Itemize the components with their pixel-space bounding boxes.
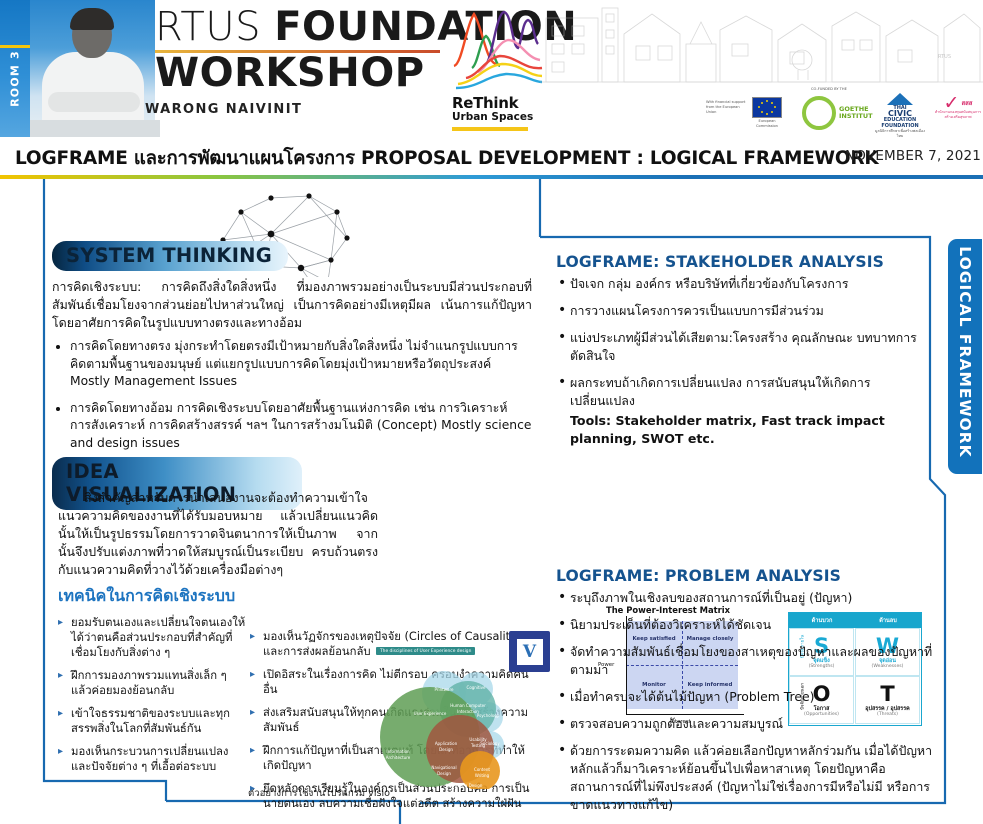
- slide-title: LOGFRAME และการพัฒนาแผนโครงการ PROPOSAL …: [15, 144, 879, 173]
- svg-text:Design: Design: [437, 771, 451, 776]
- ux-disciplines-venn: The disciplines of User Experience desig…: [372, 649, 517, 789]
- slide-title-bar: LOGFRAME และการพัฒนาแผนโครงการ PROPOSAL …: [0, 137, 983, 175]
- eu-commission-caption: European Commission: [752, 119, 782, 129]
- room-tab: ROOM 3: [0, 0, 30, 137]
- problem-analysis-section: LOGFRAME: PROBLEM ANALYSIS ระบุถึงภาพในเ…: [556, 567, 946, 823]
- sss-check-icon: ✓: [944, 96, 960, 110]
- cityscape-rtus-label: RTUS: [938, 54, 951, 60]
- svg-text:User Experience: User Experience: [414, 711, 447, 716]
- svg-text:Architecture: Architecture: [386, 755, 411, 760]
- svg-text:Usability: Usability: [469, 737, 487, 742]
- slide-date: NOVEMBER 7, 2021: [845, 148, 981, 164]
- stakeholder-bullets: ปัจเจก กลุ่ม องค์กร หรือบริษัทที่เกี่ยวข…: [556, 275, 926, 448]
- svg-text:Human Computer: Human Computer: [450, 703, 486, 708]
- svg-text:Testing: Testing: [470, 743, 486, 748]
- rethink-underline: [452, 127, 528, 131]
- list-item: มองเห็นกระบวนการเปลี่ยนแปลงและปัจจัยต่าง…: [58, 744, 248, 774]
- svg-text:Content: Content: [474, 767, 490, 772]
- sss-subtitle: สำนักงานกองทุนสนับสนุนการสร้างเสริมสุขภา…: [934, 110, 982, 120]
- list-item: การคิดโดยทางอ้อม การคิดเชิงระบบโดยอาศัยพ…: [70, 400, 532, 453]
- technique-column-1: ยอมรับตนเองและเปลี่ยนใจตนเองให้ได้ว่าตนค…: [58, 615, 248, 782]
- list-item: เข้าใจธรรมชาติของระบบและทุกสรรพสิ่งในโลก…: [58, 706, 248, 736]
- sss-logo: ✓ สสส สำนักงานกองทุนสนับสนุนการสร้างเสริ…: [934, 96, 982, 120]
- rethink-peaks-icon: [452, 6, 544, 92]
- list-item: เมื่อทำครบจะได้ต้นไม้ปัญหา (Problem Tree…: [556, 688, 946, 706]
- svg-text:Information: Information: [386, 749, 410, 754]
- list-item: การวางแผนโครงการควรเป็นแบบการมีส่วนร่วม: [556, 302, 926, 320]
- photo-hair: [70, 8, 114, 30]
- list-item: ยอมรับตนเองและเปลี่ยนใจตนเองให้ได้ว่าตนค…: [58, 615, 248, 660]
- idea-visualization-paragraph: สิ่งสำคัญสำหรับการนำเสนองานจะต้องทำความเ…: [58, 489, 378, 579]
- system-thinking-section: SYSTEM THINKING การคิดเชิงระบบ: การคิดถึ…: [52, 241, 532, 461]
- svg-text:Cognitive: Cognitive: [467, 685, 486, 690]
- civic-triangle-icon: [887, 93, 913, 105]
- stakeholder-tools: Tools: Stakeholder matrix, Fast track im…: [570, 412, 926, 448]
- photo-shirt: [42, 52, 144, 128]
- list-item: ระบุถึงภาพในเชิงลบของสถานการณ์ที่เป็นอยู…: [556, 589, 946, 607]
- eu-flag-icon: European Commission: [752, 97, 782, 129]
- sss-name: สสส: [961, 98, 972, 108]
- title-rtus: RTUS: [155, 4, 274, 50]
- system-thinking-paragraph: การคิดเชิงระบบ: การคิดถึงสิ่งใดสิ่งหนึ่ง…: [52, 278, 532, 332]
- idea-visualization-subheading: เทคนิคในการคิดเชิงระบบ: [58, 584, 235, 609]
- svg-text:Printware: Printware: [435, 687, 454, 692]
- photo-arms: [48, 92, 140, 112]
- goethe-line2: INSTITUT: [839, 113, 873, 120]
- visio-app-icon: V: [509, 631, 550, 672]
- rethink-subtitle: Urban Spaces: [452, 111, 533, 123]
- rethink-name: ReThink: [452, 94, 518, 112]
- room-tab-label: ROOM 3: [9, 41, 22, 117]
- problem-heading: LOGFRAME: PROBLEM ANALYSIS: [556, 567, 946, 585]
- svg-text:Writing: Writing: [475, 773, 490, 778]
- slide-body: SYSTEM THINKING การคิดเชิงระบบ: การคิดถึ…: [0, 179, 983, 824]
- svg-text:Psychology: Psychology: [477, 713, 500, 718]
- svg-text:Interaction Design: Interaction Design: [446, 783, 483, 788]
- svg-text:Navigational: Navigational: [431, 765, 456, 770]
- svg-text:Design: Design: [439, 747, 453, 752]
- venn-circles: Printware Cognitive Psychology Sociology…: [372, 649, 517, 789]
- page-header: ROOM 3 RTUS FOUNDATION WORKSHOP WARONG N…: [0, 0, 983, 137]
- list-item: การคิดโดยทางตรง มุ่งกระทำโดยตรงมีเป้าหมา…: [70, 338, 532, 391]
- cityscape-illustration: RTUS: [540, 0, 983, 90]
- system-thinking-heading: SYSTEM THINKING: [52, 241, 288, 271]
- venn-caption: The disciplines of User Experience desig…: [376, 647, 475, 655]
- sponsor-logos: With financial support from the European…: [706, 86, 983, 134]
- goethe-institut-logo: GOETHE INSTITUT: [802, 96, 873, 130]
- problem-bullets: ระบุถึงภาพในเชิงลบของสถานการณ์ที่เป็นอยู…: [556, 589, 946, 814]
- system-thinking-bullets: การคิดโดยทางตรง มุ่งกระทำโดยตรงมีเป้าหมา…: [52, 338, 532, 452]
- cofunded-text: CO-FUNDED BY THE: [811, 87, 847, 92]
- list-item: ผลกระทบถ้าเกิดการเปลี่ยนแปลง การสนับสนุน…: [556, 374, 926, 448]
- stakeholder-analysis-section: LOGFRAME: STAKEHOLDER ANALYSIS ปัจเจก กล…: [556, 253, 926, 457]
- thai-civic-logo: THAI CIVIC EDUCATION FOUNDATION มูลนิธิก…: [873, 93, 927, 137]
- logical-framework-tab-label: LOGICAL FRAMEWORK: [956, 234, 974, 470]
- civic-subtitle: มูลนิธิการศึกษาเพื่อสร้างพลเมืองไทย: [873, 129, 927, 137]
- logical-framework-tab[interactable]: LOGICAL FRAMEWORK: [948, 239, 982, 474]
- rethink-logo: ReThink Urban Spaces: [452, 6, 544, 134]
- presenter-photo: [30, 0, 155, 137]
- list-item: ตรวจสอบความถูกต้องและความสมบูรณ์: [556, 715, 946, 733]
- list-item: นิยามประเด็นที่ต้องวิเคราะห์ได้ชัดเจน: [556, 616, 946, 634]
- list-item: จัดทำความสัมพันธ์เชื่อมโยงของสาเหตุของปั…: [556, 643, 946, 679]
- list-item: ด้วยการระดมความคิด แล้วค่อยเลือกปัญหาหลั…: [556, 742, 946, 814]
- list-item: ฝึกการมองภาพรวมแทนสิ่งเล็ก ๆ แล้วค่อยมอง…: [58, 668, 248, 698]
- list-item-text: ผลกระทบถ้าเกิดการเปลี่ยนแปลง การสนับสนุน…: [570, 375, 871, 408]
- list-item: ปัจเจก กลุ่ม องค์กร หรือบริษัทที่เกี่ยวข…: [556, 275, 926, 293]
- svg-text:Application: Application: [435, 741, 458, 746]
- goethe-ring-icon: [802, 96, 836, 130]
- photo-desk: [30, 120, 160, 137]
- stakeholder-heading: LOGFRAME: STAKEHOLDER ANALYSIS: [556, 253, 926, 271]
- svg-text:Interaction: Interaction: [457, 709, 479, 714]
- presenter-name: WARONG NAIVINIT: [145, 102, 302, 117]
- visio-letter: V: [517, 639, 543, 665]
- list-item: แบ่งประเภทผู้มีส่วนได้เสียตาม:โครงสร้าง …: [556, 329, 926, 365]
- eu-support-text: With financial support from the European…: [706, 100, 748, 115]
